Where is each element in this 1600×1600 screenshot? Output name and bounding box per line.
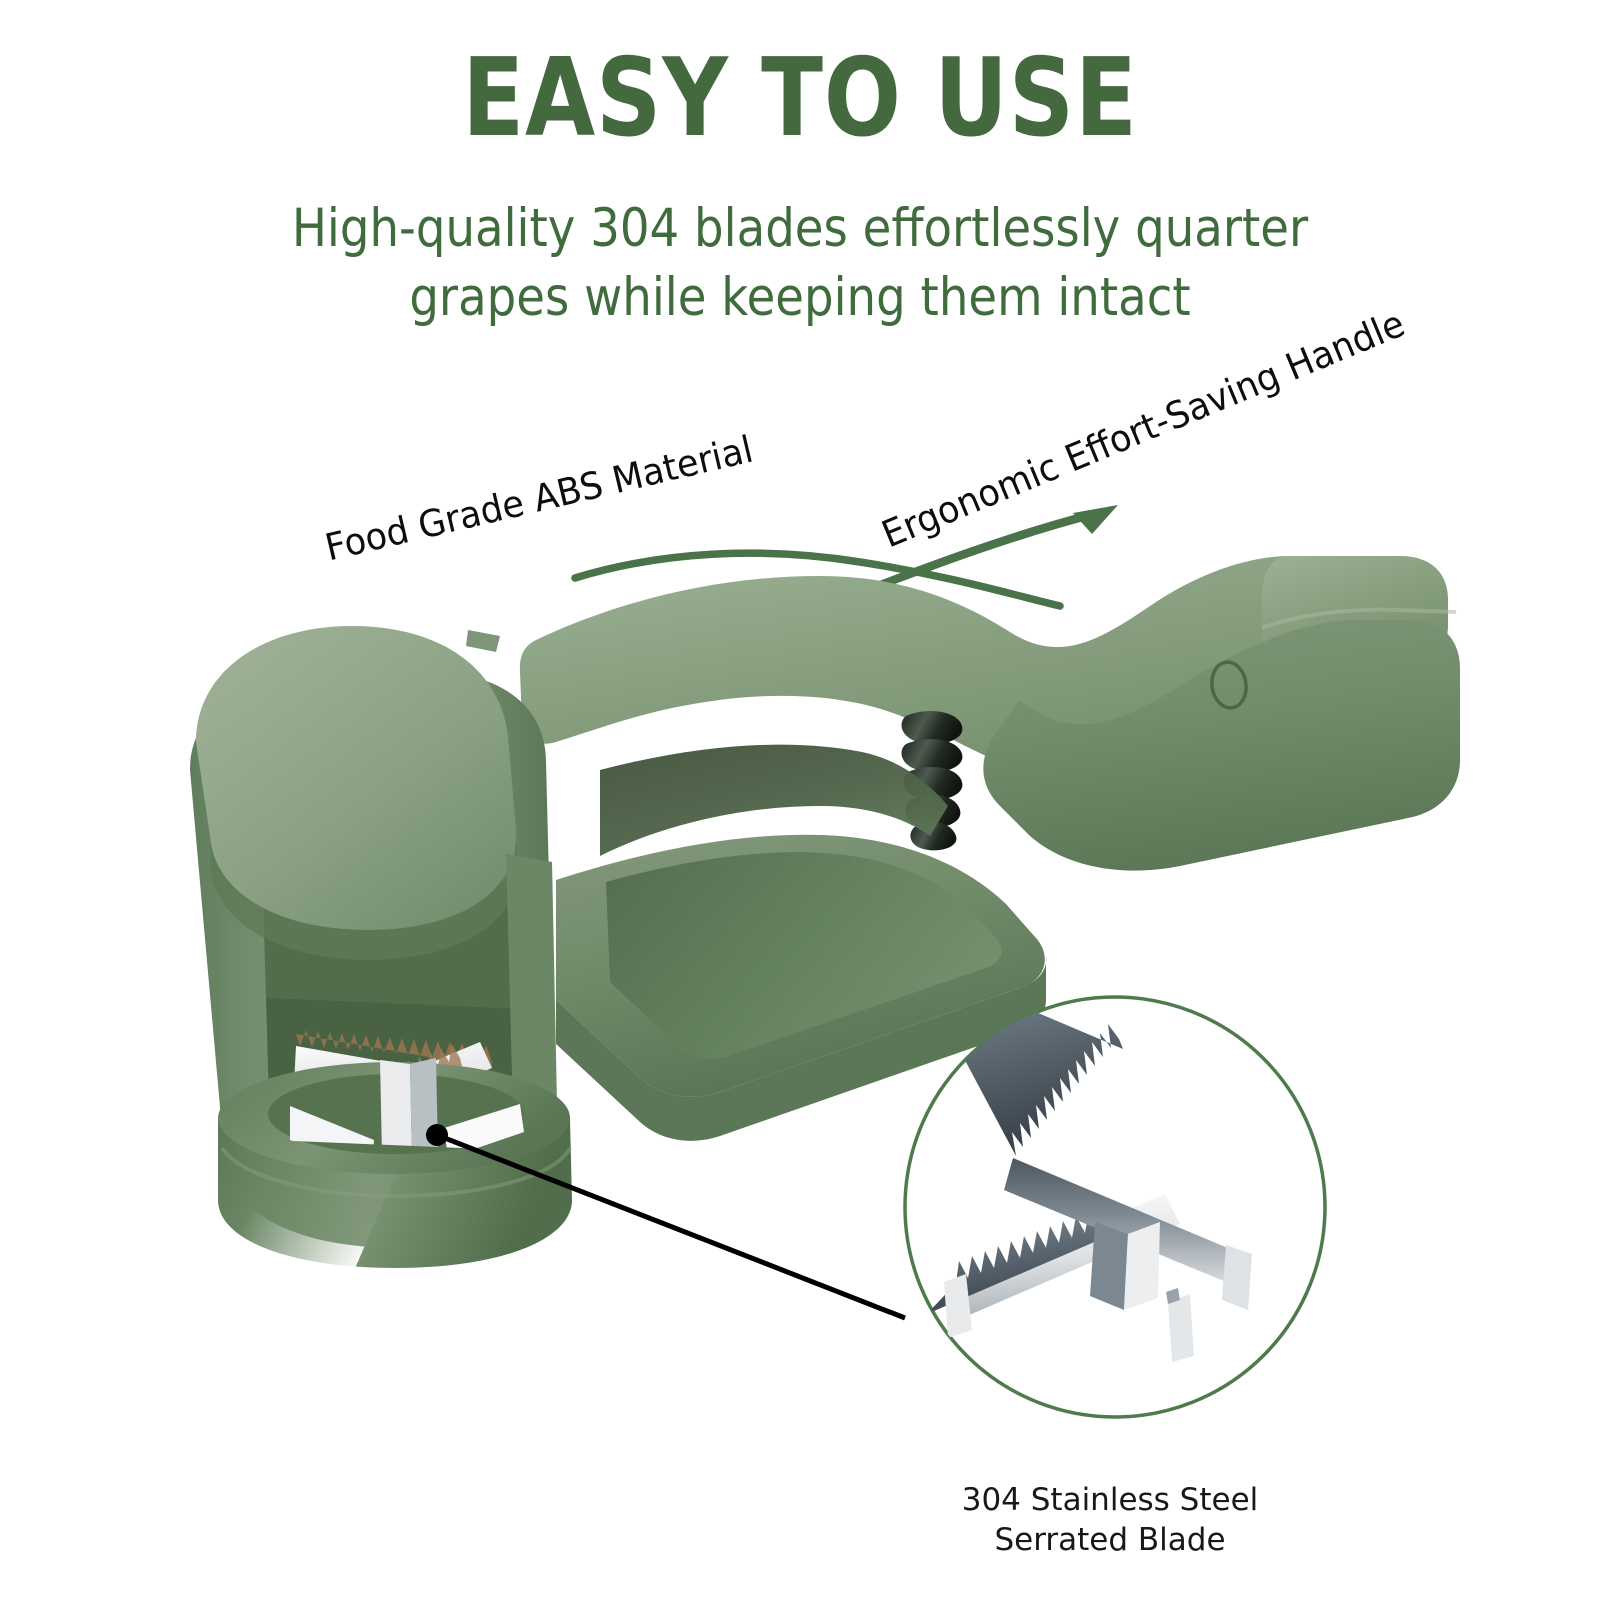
- product-handle-grip: [983, 610, 1460, 871]
- product-inner-cavity: [600, 745, 948, 856]
- page-title: EASY TO USE: [128, 42, 1472, 156]
- detail-circle-caption: 304 Stainless Steel Serrated Blade: [860, 1481, 1360, 1560]
- product-cylinder-body: [190, 672, 556, 1248]
- product-grape-cutter: [190, 556, 1460, 1268]
- serrated-blade-icon: [911, 959, 1252, 1362]
- product-upper-lever: [520, 556, 1448, 768]
- product-window-posts: [226, 854, 558, 1152]
- product-lower-arm: [556, 835, 1046, 1141]
- product-dome-cap: [196, 626, 518, 960]
- leader-dot: [426, 1124, 448, 1146]
- product-blade-window: [248, 860, 568, 1178]
- hang-hole-icon: [1209, 660, 1249, 710]
- caption-line-2: Serrated Blade: [860, 1521, 1360, 1561]
- subtitle-line-1: High-quality 304 blades effortlessly qua…: [237, 195, 1363, 264]
- product-base-ring: [218, 1062, 572, 1268]
- page-subtitle: High-quality 304 blades effortlessly qua…: [237, 195, 1363, 333]
- coil-spring-icon: [902, 711, 963, 850]
- caption-line-1: 304 Stainless Steel: [860, 1481, 1360, 1521]
- blade-leader-line: [426, 1124, 905, 1318]
- callout-ergonomic-handle: Ergonomic Effort-Saving Handle: [876, 302, 1411, 556]
- product-blade-highlight: [290, 1058, 524, 1172]
- product-latch-notch: [496, 1022, 548, 1146]
- food-grade-underline-marker: [575, 553, 1060, 606]
- detail-circle: [905, 959, 1325, 1417]
- callout-food-grade-abs: Food Grade ABS Material: [321, 428, 757, 570]
- subtitle-line-2: grapes while keeping them intact: [237, 264, 1363, 333]
- infographic-canvas: EASY TO USE High-quality 304 blades effo…: [0, 0, 1600, 1600]
- product-blade-assembly: [280, 1030, 524, 1172]
